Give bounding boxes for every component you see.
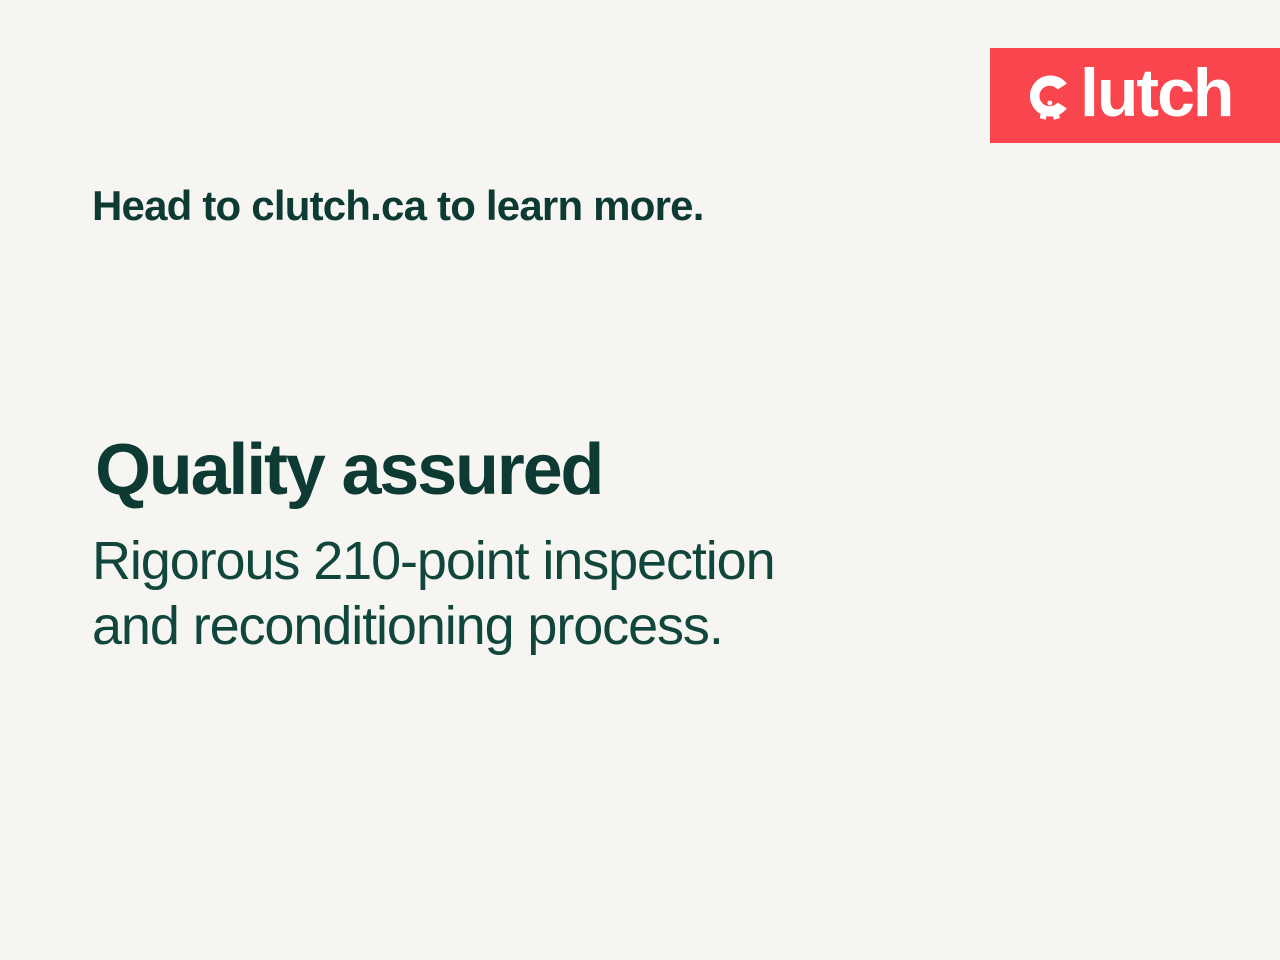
brand-wordmark-text: lutch <box>1080 59 1232 127</box>
slide-canvas: lutch Head to clutch.ca to learn more. Q… <box>0 0 1280 960</box>
brand-badge[interactable]: lutch <box>990 48 1280 143</box>
clutch-steering-wheel-icon <box>1022 69 1076 123</box>
page-title: Quality assured <box>95 434 992 507</box>
lead-callout-text: Head to clutch.ca to learn more. <box>92 182 704 230</box>
page-subtitle: Rigorous 210-point inspection and recond… <box>92 529 992 658</box>
page-subtitle-line-2: and reconditioning process. <box>92 594 992 658</box>
brand-wordmark: lutch <box>1022 62 1232 130</box>
headline-block: Quality assured Rigorous 210-point inspe… <box>92 434 992 658</box>
page-subtitle-line-1: Rigorous 210-point inspection <box>92 529 992 593</box>
